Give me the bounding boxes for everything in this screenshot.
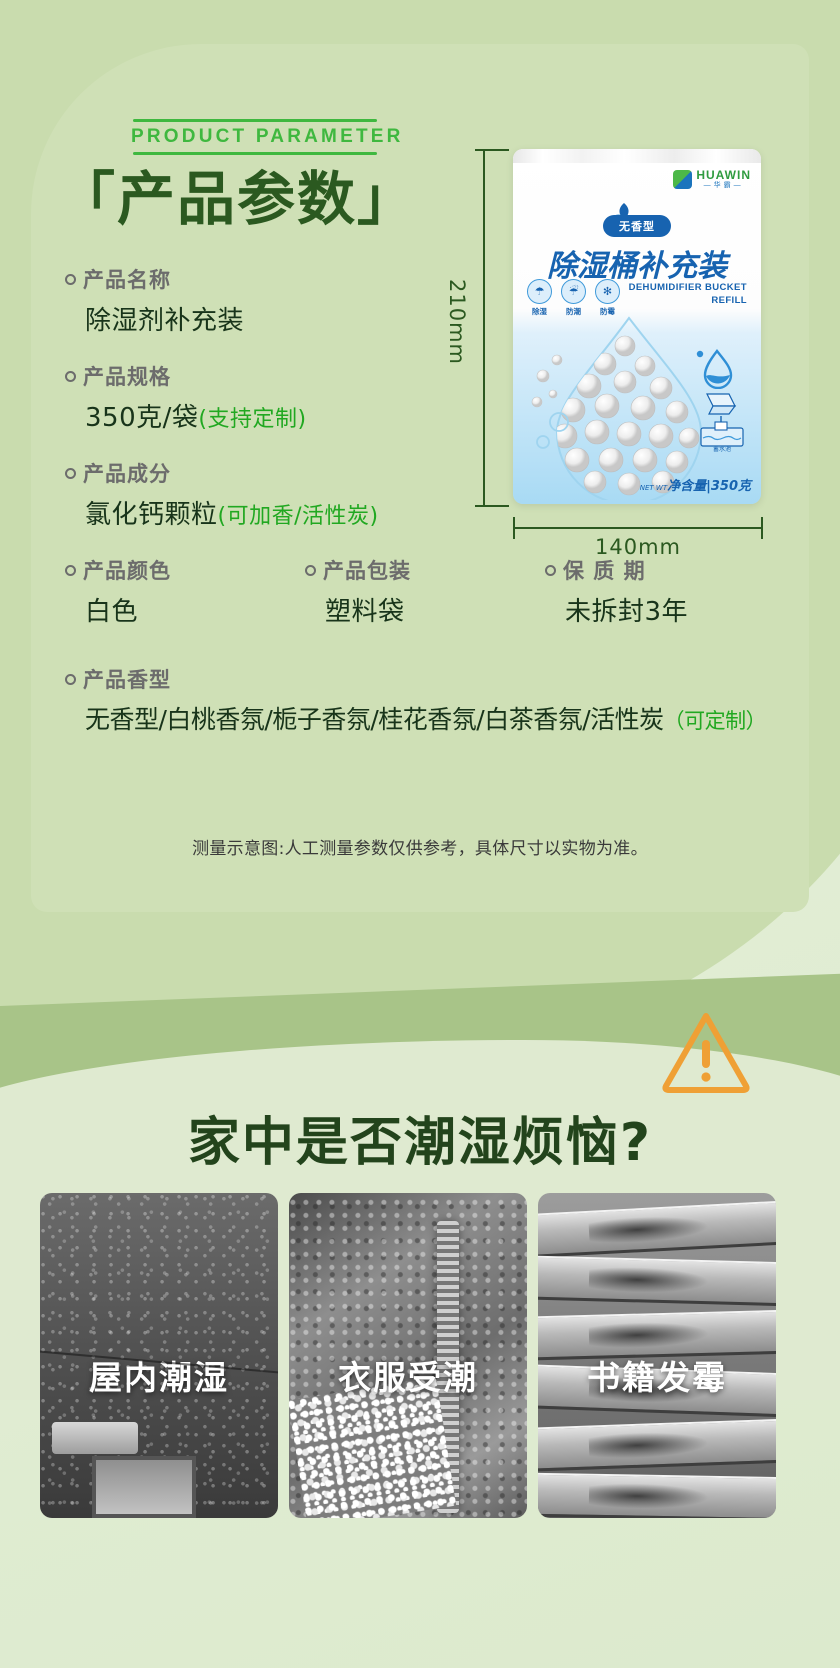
brand-name-en: HUAWIN (696, 169, 751, 181)
spec-label: 产品颜色 (65, 555, 305, 585)
problem-photo-grid: 屋内潮湿 衣服受潮 书籍发霉 (40, 1193, 776, 1518)
dehumidify-glyph: ☂ (535, 285, 545, 298)
brand-logo-text: HUAWIN —华霸— (696, 169, 751, 189)
water-reservoir-label: 蓄水池 (713, 445, 731, 452)
book-shape (538, 1200, 776, 1258)
spec-value-note: (支持定制) (198, 407, 306, 432)
net-weight-prefix: NET WT (640, 484, 667, 492)
spec-value: 无香型/白桃香氛/栀子香氛/桂花香氛/白茶香氛/活性炭（可定制） (85, 700, 765, 736)
spec-value: 塑料袋 (325, 591, 545, 628)
package-title-en-line1: DEHUMIDIFIER BUCKET (629, 282, 747, 295)
bullet-circle-icon (65, 468, 76, 479)
bullet-circle-icon (305, 565, 316, 576)
fragrance-note: （可定制） (664, 709, 767, 733)
product-parameter-card: PRODUCT PARAMETER 「产品参数」 产品名称 除湿剂补充装 产品规… (31, 44, 809, 912)
moisture-proof-icon: ☔ (561, 279, 586, 304)
photo-caption: 衣服受潮 (289, 1351, 527, 1399)
dehumidify-icon: ☂ (527, 279, 552, 304)
spec-columns-row: 产品颜色 白色 产品包装 塑料袋 保 质 期 未拆封3年 (65, 555, 765, 628)
product-package-image: HUAWIN —华霸— 无香型 除湿桶补充装 DEHUMIDIFIER BUCK… (513, 149, 761, 504)
spec-label-text: 产品名称 (83, 268, 171, 292)
width-dimension-line (513, 527, 763, 529)
spec-label-text: 保 质 期 (563, 559, 646, 583)
bullet-circle-icon (65, 371, 76, 382)
page-title: 「产品参数」 (57, 152, 417, 236)
photo-moldy-books[interactable]: 书籍发霉 (538, 1193, 776, 1518)
bullet-circle-icon (65, 674, 76, 685)
photo-damp-clothes[interactable]: 衣服受潮 (289, 1193, 527, 1518)
book-shape (538, 1473, 776, 1518)
fragrance-badge: 无香型 (603, 215, 671, 237)
height-dimension-cap-bottom (475, 505, 509, 507)
spec-label-text: 产品规格 (83, 365, 171, 389)
measurement-footnote: 测量示意图:人工测量参数仅供参考，具体尺寸以实物为准。 (31, 834, 809, 859)
spec-item-shelf-life: 保 质 期 未拆封3年 (545, 555, 765, 628)
moisture-proof-glyph: ☔ (569, 285, 579, 298)
spec-label: 保 质 期 (545, 555, 765, 585)
photo-caption: 书籍发霉 (538, 1351, 776, 1399)
fragrance-list-text: 无香型/白桃香氛/栀子香氛/桂花香氛/白茶香氛/活性炭 (85, 705, 664, 734)
spec-value: 白色 (85, 591, 305, 628)
package-title-en: DEHUMIDIFIER BUCKET REFILL (629, 282, 747, 308)
height-dimension-cap-top (475, 149, 509, 151)
spec-value-text: 氯化钙颗粒 (85, 500, 218, 530)
ceiling-lamp-shape (52, 1422, 138, 1454)
spec-value-note: (可加香/活性炭) (218, 504, 379, 529)
spec-item-color: 产品颜色 白色 (65, 555, 305, 628)
width-dimension-label: 140mm (513, 535, 763, 559)
spec-value-text: 350克/袋 (85, 403, 198, 433)
usage-instruction-icon: 蓄水池 (695, 392, 749, 452)
package-dimension-diagram: 210mm HUAWIN —华霸— 无香型 除湿桶补充装 DEHUMIDIFIE… (461, 139, 801, 559)
section-eyebrow: PRODUCT PARAMETER (131, 126, 404, 148)
brand-mark-icon (673, 170, 692, 189)
spec-label: 产品香型 (65, 664, 765, 694)
pellets-illustration (529, 310, 719, 500)
doorway-shape (92, 1456, 196, 1518)
book-shape (538, 1256, 776, 1307)
spec-label-text: 产品成分 (83, 462, 171, 486)
book-shape (538, 1418, 776, 1471)
spec-item-packaging: 产品包装 塑料袋 (305, 555, 545, 628)
brand-name-cn: —华霸— (696, 182, 751, 189)
mold-proof-icon: ✻ (595, 279, 620, 304)
spec-label-text: 产品香型 (83, 668, 171, 692)
spec-label-text: 产品包装 (323, 559, 411, 583)
bullet-circle-icon (65, 274, 76, 285)
package-title-en-line2: REFILL (629, 295, 747, 308)
brand-logo: HUAWIN —华霸— (673, 169, 751, 189)
mold-proof-glyph: ✻ (603, 285, 612, 298)
warning-triangle-icon (660, 1008, 752, 1094)
height-dimension-line (483, 149, 485, 507)
net-weight-value: 净含量|350克 (667, 479, 751, 494)
net-weight-label: NET WT净含量|350克 (640, 475, 751, 494)
photo-indoor-damp[interactable]: 屋内潮湿 (40, 1193, 278, 1518)
question-headline: 家中是否潮湿烦恼? (0, 1100, 840, 1175)
photo-caption: 屋内潮湿 (40, 1351, 278, 1399)
spec-value: 未拆封3年 (565, 591, 765, 628)
bullet-circle-icon (65, 565, 76, 576)
bullet-circle-icon (545, 565, 556, 576)
spec-item-fragrance: 产品香型 无香型/白桃香氛/栀子香氛/桂花香氛/白茶香氛/活性炭（可定制） (65, 664, 765, 736)
spec-label: 产品包装 (305, 555, 545, 585)
spec-label-text: 产品颜色 (83, 559, 171, 583)
spec-value-text: 除湿剂补充装 (85, 306, 244, 336)
height-dimension-label: 210mm (445, 279, 469, 365)
